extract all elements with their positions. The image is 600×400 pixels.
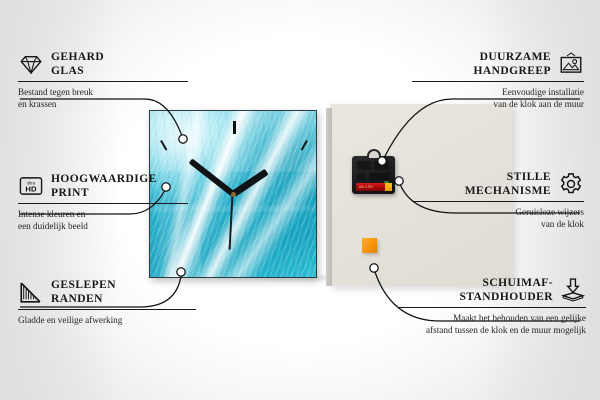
ultra-hd-icon: ultra HD bbox=[18, 173, 44, 199]
callout-header: STILLE MECHANISME bbox=[412, 170, 584, 198]
callout-gehard-glas: GEHARD GLAS Bestand tegen breuk en krass… bbox=[18, 50, 188, 111]
gear-icon bbox=[558, 171, 584, 197]
foam-standoff bbox=[362, 238, 377, 253]
battery: AA 1.5V bbox=[356, 183, 392, 191]
callout-hoogwaardige-print: ultra HD HOOGWAARDIGE PRINT Intense kleu… bbox=[18, 172, 188, 233]
svg-text:HD: HD bbox=[25, 185, 37, 194]
quartz-mechanism: AA 1.5V bbox=[352, 156, 395, 194]
callout-divider bbox=[18, 81, 188, 82]
picture-hanger-icon bbox=[558, 51, 584, 77]
callout-divider bbox=[18, 309, 196, 310]
callout-duurzame-handgreep: DUURZAME HANDGREEP Eenvoudige installati… bbox=[412, 50, 584, 111]
mechanism-detail bbox=[374, 161, 389, 170]
callout-title: SCHUIMAF- STANDHOUDER bbox=[459, 276, 553, 304]
press-down-pad-icon bbox=[560, 277, 586, 303]
clock-hour-hand bbox=[231, 169, 268, 197]
callout-header: SCHUIMAF- STANDHOUDER bbox=[398, 276, 586, 304]
callout-description: Maakt het behouden van een gelijke afsta… bbox=[398, 312, 586, 336]
callout-header: GEHARD GLAS bbox=[18, 50, 188, 78]
callout-header: ultra HD HOOGWAARDIGE PRINT bbox=[18, 172, 188, 200]
callout-title: GEHARD GLAS bbox=[51, 50, 104, 78]
mechanism-detail bbox=[369, 173, 389, 180]
callout-title: DUURZAME HANDGREEP bbox=[473, 50, 551, 78]
callout-title: HOOGWAARDIGE PRINT bbox=[51, 172, 157, 200]
callout-title: STILLE MECHANISME bbox=[465, 170, 551, 198]
product-infographic: AA 1.5V bbox=[0, 0, 600, 400]
callout-divider bbox=[18, 203, 188, 204]
callout-description: Eenvoudige installatie van de klok aan d… bbox=[412, 86, 584, 110]
callout-description: Bestand tegen breuk en krassen bbox=[18, 86, 188, 110]
callout-divider bbox=[398, 307, 586, 308]
callout-header: DUURZAME HANDGREEP bbox=[412, 50, 584, 78]
callout-title: GESLEPEN RANDEN bbox=[51, 278, 116, 306]
panel-side-edge bbox=[326, 108, 332, 286]
callout-header: GESLEPEN RANDEN bbox=[18, 278, 196, 306]
callout-geslepen-randen: GESLEPEN RANDEN Gladde en veilige afwerk… bbox=[18, 278, 196, 326]
wall-hanger-loop bbox=[367, 149, 381, 158]
callout-divider bbox=[412, 201, 584, 202]
battery-label: AA 1.5V bbox=[359, 185, 373, 189]
callout-description: Intense kleuren en een duidelijk beeld bbox=[18, 208, 188, 232]
callout-description: Geruisloze wijzers van de klok bbox=[412, 206, 584, 230]
callout-stille-mechanisme: STILLE MECHANISME Geruisloze wijzers van… bbox=[412, 170, 584, 231]
mechanism-detail bbox=[357, 161, 371, 170]
dial-tick bbox=[233, 121, 236, 134]
clock-center-cap bbox=[231, 192, 236, 197]
diamond-icon bbox=[18, 51, 44, 77]
clock-minute-hand bbox=[189, 158, 235, 196]
beveled-edge-icon bbox=[18, 279, 44, 305]
clock-second-hand bbox=[229, 194, 233, 250]
callout-divider bbox=[412, 81, 584, 82]
dial-tick bbox=[160, 140, 167, 151]
mechanism-detail bbox=[357, 173, 366, 181]
battery-terminal bbox=[385, 183, 392, 191]
dial-tick bbox=[301, 140, 308, 151]
callout-description: Gladde en veilige afwerking bbox=[18, 314, 196, 326]
callout-schuimafstandhouder: SCHUIMAF- STANDHOUDER Maakt het behouden… bbox=[398, 276, 586, 337]
